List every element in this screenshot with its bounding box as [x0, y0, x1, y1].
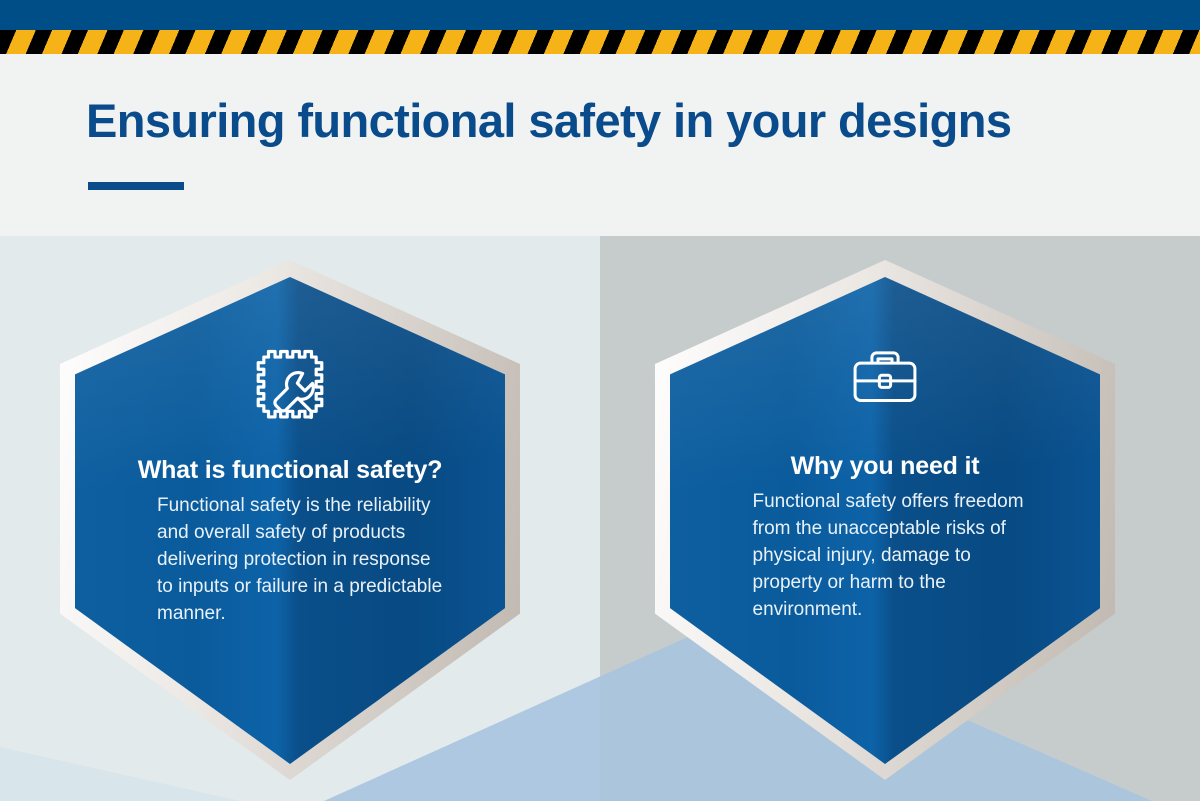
toolbox-icon [837, 336, 933, 422]
card-heading: Why you need it [791, 452, 980, 481]
gear-wrench-icon [242, 344, 338, 430]
shield-content-right: Why you need it Functional safety offers… [655, 260, 1115, 780]
shield-content-left: What is functional safety? Functional sa… [60, 260, 520, 780]
card-heading: What is functional safety? [138, 456, 443, 485]
content-stage: What is functional safety? Functional sa… [0, 236, 1200, 801]
shield-card-what-is-functional-safety: What is functional safety? Functional sa… [60, 260, 520, 780]
title-underline-rule [88, 182, 184, 190]
infographic-canvas: Ensuring functional safety in your desig… [0, 0, 1200, 801]
hazard-stripe-divider [0, 30, 1200, 54]
top-brand-band [0, 0, 1200, 30]
shield-card-why-you-need-it: Why you need it Functional safety offers… [655, 260, 1115, 780]
card-body-text: Functional safety is the reliability and… [157, 493, 447, 628]
page-title: Ensuring functional safety in your desig… [86, 96, 1011, 145]
header-section: Ensuring functional safety in your desig… [0, 54, 1200, 236]
card-body-text: Functional safety offers freedom from th… [753, 489, 1028, 624]
